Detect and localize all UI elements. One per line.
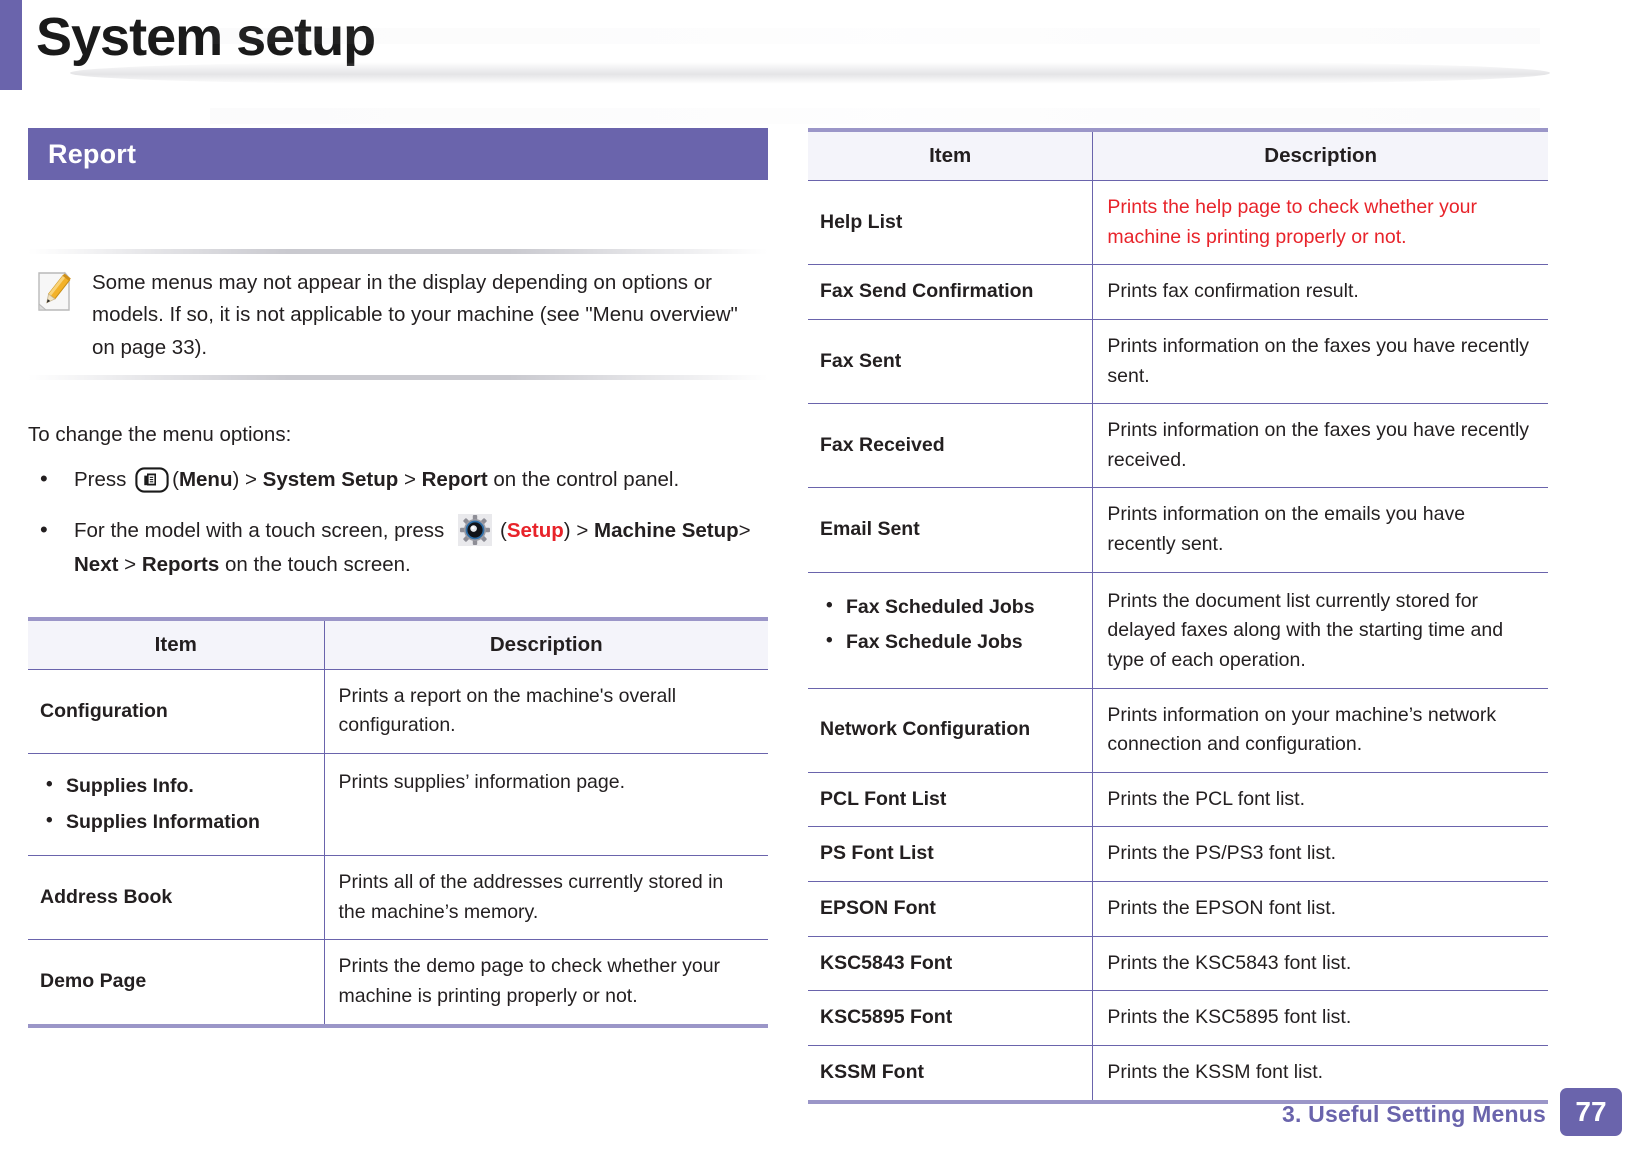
step1-sep1: > — [239, 468, 262, 491]
step1-sep2: > — [398, 468, 421, 491]
step2-sep3: > — [118, 553, 141, 576]
row-item: Address Book — [28, 856, 324, 940]
row-subitem: Supplies Information — [40, 808, 310, 838]
footer-chapter-label: 3. Useful Setting Menus — [1282, 1101, 1546, 1136]
row-subitem: Fax Scheduled Jobs — [820, 593, 1078, 623]
step-control-panel: Press (Menu) > System Setup > Report on … — [28, 463, 768, 496]
step2-paren-open: ( — [500, 519, 507, 542]
row-subitem: Supplies Info. — [40, 772, 310, 802]
row-description: Prints the EPSON font list. — [1093, 882, 1548, 937]
right-column: Item Description Help List Prints the he… — [808, 128, 1548, 1104]
row-description: Prints information on your machine’s net… — [1093, 688, 1548, 772]
step1-path1: System Setup — [263, 468, 399, 491]
section-band-title: Report — [48, 139, 136, 170]
column-header-description: Description — [324, 619, 768, 670]
step2-path1: Machine Setup — [594, 519, 739, 542]
row-item: Demo Page — [28, 940, 324, 1026]
table-row: Network Configuration Prints information… — [808, 688, 1548, 772]
section-band-report: Report — [28, 128, 768, 180]
step1-paren-open: ( — [172, 468, 179, 491]
step2-sep1: > — [571, 519, 594, 542]
row-item: Fax Sent — [808, 319, 1093, 403]
column-header-description: Description — [1093, 130, 1548, 181]
row-description: Prints the PS/PS3 font list. — [1093, 827, 1548, 882]
row-item: EPSON Font — [808, 882, 1093, 937]
report-table-left-wrap: Item Description Configuration Prints a … — [28, 617, 768, 1028]
row-description: Prints the KSC5895 font list. — [1093, 991, 1548, 1046]
table-row: PCL Font List Prints the PCL font list. — [808, 772, 1548, 827]
table-body-right: Help List Prints the help page to check … — [808, 181, 1548, 1102]
table-row: EPSON Font Prints the EPSON font list. — [808, 882, 1548, 937]
step2-path3: Reports — [142, 553, 219, 576]
row-description: Prints supplies’ information page. — [324, 753, 768, 855]
left-column: Report — [28, 128, 768, 1028]
row-item: KSC5895 Font — [808, 991, 1093, 1046]
setup-gear-icon — [458, 514, 492, 546]
table-row: Help List Prints the help page to check … — [808, 181, 1548, 265]
row-item: PCL Font List — [808, 772, 1093, 827]
row-description: Prints a report on the machine's overall… — [324, 669, 768, 753]
step2-sep2: > — [739, 519, 751, 542]
table-row: Address Book Prints all of the addresses… — [28, 856, 768, 940]
step1-menu-label: Menu — [179, 468, 233, 491]
row-item: Fax Scheduled Jobs Fax Schedule Jobs — [808, 572, 1093, 688]
row-item: KSC5843 Font — [808, 936, 1093, 991]
table-row: Supplies Info. Supplies Information Prin… — [28, 753, 768, 855]
table-row: Email Sent Prints information on the ema… — [808, 488, 1548, 572]
row-item: Network Configuration — [808, 688, 1093, 772]
row-description: Prints information on the faxes you have… — [1093, 404, 1548, 488]
note-text: Some menus may not appear in the display… — [92, 267, 760, 364]
steps-list: Press (Menu) > System Setup > Report on … — [28, 463, 768, 581]
row-subitem-list: Fax Scheduled Jobs Fax Schedule Jobs — [820, 593, 1078, 658]
column-header-item: Item — [28, 619, 324, 670]
table-header-row: Item Description — [808, 130, 1548, 181]
table-row: KSC5895 Font Prints the KSC5895 font lis… — [808, 991, 1548, 1046]
table-row: Demo Page Prints the demo page to check … — [28, 940, 768, 1026]
ghost-artifact-row-1 — [210, 28, 1540, 44]
row-subitem: Fax Schedule Jobs — [820, 628, 1078, 658]
header-accent-bar — [0, 0, 22, 90]
row-description: Prints information on the emails you hav… — [1093, 488, 1548, 572]
table-body-left: Configuration Prints a report on the mac… — [28, 669, 768, 1026]
ghost-artifact-row-2 — [210, 108, 1540, 124]
step2-setup-label: Setup — [507, 519, 564, 542]
step2-paren-close: ) — [564, 519, 571, 542]
page-footer: 3. Useful Setting Menus 77 — [1282, 1088, 1622, 1136]
row-item: Supplies Info. Supplies Information — [28, 753, 324, 855]
row-description: Prints the document list currently store… — [1093, 572, 1548, 688]
row-item: Fax Send Confirmation — [808, 265, 1093, 320]
table-row: PS Font List Prints the PS/PS3 font list… — [808, 827, 1548, 882]
note-pencil-icon — [36, 271, 74, 313]
row-item: KSSM Font — [808, 1045, 1093, 1101]
note-callout: Some menus may not appear in the display… — [28, 240, 768, 389]
step2-path2: Next — [74, 553, 118, 576]
table-row: Fax Sent Prints information on the faxes… — [808, 319, 1548, 403]
page-number-badge: 77 — [1560, 1088, 1622, 1136]
row-item: PS Font List — [808, 827, 1093, 882]
row-item: Help List — [808, 181, 1093, 265]
row-description: Prints the PCL font list. — [1093, 772, 1548, 827]
step1-path2: Report — [422, 468, 488, 491]
step2-prefix: For the model with a touch screen, press — [74, 519, 444, 542]
row-item: Fax Received — [808, 404, 1093, 488]
table-row: Fax Received Prints information on the f… — [808, 404, 1548, 488]
document-page: System setup Report — [0, 0, 1650, 1158]
row-description: Prints the KSC5843 font list. — [1093, 936, 1548, 991]
row-description: Prints all of the addresses currently st… — [324, 856, 768, 940]
row-subitem-list: Supplies Info. Supplies Information — [40, 772, 310, 837]
table-row: KSC5843 Font Prints the KSC5843 font lis… — [808, 936, 1548, 991]
row-description: Prints the help page to check whether yo… — [1093, 181, 1548, 265]
step2-suffix: on the touch screen. — [219, 553, 410, 576]
row-description: Prints information on the faxes you have… — [1093, 319, 1548, 403]
header-sheen-divider — [70, 62, 1550, 84]
lead-text: To change the menu options: — [28, 423, 768, 447]
row-description: Prints the demo page to check whether yo… — [324, 940, 768, 1026]
table-row: Fax Send Confirmation Prints fax confirm… — [808, 265, 1548, 320]
report-table-left: Item Description Configuration Prints a … — [28, 617, 768, 1028]
table-row: Fax Scheduled Jobs Fax Schedule Jobs Pri… — [808, 572, 1548, 688]
row-item: Email Sent — [808, 488, 1093, 572]
row-item: Configuration — [28, 669, 324, 753]
menu-button-icon — [135, 467, 169, 493]
table-header-row: Item Description — [28, 619, 768, 670]
step1-suffix: on the control panel. — [488, 468, 679, 491]
table-row: Configuration Prints a report on the mac… — [28, 669, 768, 753]
column-header-item: Item — [808, 130, 1093, 181]
step-touch-screen: For the model with a touch screen, press — [28, 514, 768, 580]
step1-prefix: Press — [74, 468, 126, 491]
report-table-right: Item Description Help List Prints the he… — [808, 128, 1548, 1104]
row-description: Prints fax confirmation result. — [1093, 265, 1548, 320]
